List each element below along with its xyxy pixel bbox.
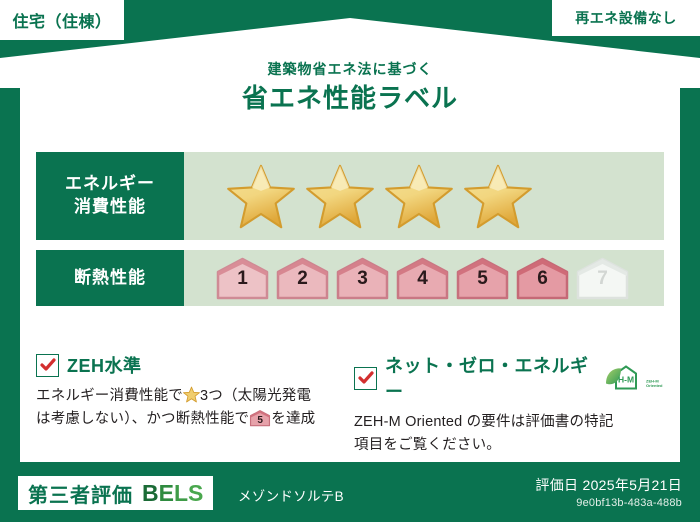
energy-performance-label: 住宅（住棟） 再エネ設備なし 建築物省エネ法に基づく 省エネ性能ラベル エネルギ…	[0, 0, 700, 522]
metric-label-line2: 消費性能	[74, 196, 146, 219]
criterion-text-2: 項目をご覧ください。	[354, 437, 501, 453]
inline-grade-badge: 5	[249, 409, 271, 427]
metric-label-insulation: 断熱性能	[36, 250, 184, 306]
grade-badge-1: 1	[214, 256, 271, 300]
metric-body-stars	[184, 152, 664, 240]
bels-logo-text: BELS	[142, 480, 203, 507]
criterion-text-4: を達成	[271, 411, 315, 427]
criterion-text-1: ZEH-M Oriented の要件は評価書の特記	[354, 414, 614, 430]
metric-row-insulation: 断熱性能 1 2 3	[36, 250, 664, 306]
star-rating	[184, 163, 533, 230]
metrics-section: エネルギー 消費性能	[36, 152, 664, 306]
grade-badge-6: 6	[514, 256, 571, 300]
badge-building-type: 住宅（住棟）	[0, 0, 124, 40]
badge-renewable-equipment: 再エネ設備なし	[552, 0, 700, 36]
grade-number: 4	[394, 268, 451, 290]
star-icon	[183, 386, 200, 403]
checkbox-checked-icon	[354, 367, 377, 390]
star-icon	[226, 163, 296, 230]
grade-number: 6	[514, 268, 571, 290]
criterion-net-zero-energy: ネット・ゼロ・エネルギー H-M ZEH-M Oriented ZEH-M Or…	[346, 352, 664, 458]
metric-label-energy-consumption: エネルギー 消費性能	[36, 152, 184, 240]
metric-body-grades: 1 2 3 4 5	[184, 250, 664, 306]
checkbox-checked-icon	[36, 354, 59, 377]
criterion-description: エネルギー消費性能で3つ（太陽光発電 は考慮しない）、かつ断熱性能で5を達成	[36, 385, 346, 432]
criterion-zeh-standard: ZEH水準 エネルギー消費性能で3つ（太陽光発電 は考慮しない）、かつ断熱性能で…	[36, 352, 346, 458]
criterion-title: ネット・ゼロ・エネルギー	[385, 352, 594, 404]
star-icon	[305, 163, 375, 230]
bels-letter-s: S	[188, 480, 203, 506]
criterion-header: ZEH水準	[36, 352, 346, 378]
grade-badge-3: 3	[334, 256, 391, 300]
metric-label-line1: 断熱性能	[74, 267, 146, 290]
grade-badge-5: 5	[454, 256, 511, 300]
bels-letter-b: B	[142, 480, 159, 506]
criterion-text-3: は考慮しない）、かつ断熱性能で	[36, 411, 249, 427]
logo-text-sub2: Oriented	[646, 383, 663, 388]
bels-letter-l: L	[174, 480, 188, 506]
criterion-description: ZEH-M Oriented の要件は評価書の特記 項目をご覧ください。	[354, 411, 664, 458]
grade-number: 2	[274, 268, 331, 290]
footer-bar: 第三者評価 BELS メゾンドソルテB 評価日 2025年5月21日 9e0bf…	[0, 466, 700, 522]
star-icon	[384, 163, 454, 230]
evaluation-id: 9e0bf13b-483a-488b	[576, 497, 682, 509]
grade-badge-7: 7	[574, 256, 631, 300]
bels-badge: 第三者評価 BELS	[18, 476, 213, 510]
bels-letter-e: E	[159, 480, 174, 506]
star-icon	[463, 163, 533, 230]
building-name: メゾンドソルテB	[238, 485, 344, 505]
criterion-title: ZEH水準	[67, 352, 142, 378]
title-subtitle: 建築物省エネ法に基づく	[0, 62, 700, 76]
criteria-section: ZEH水準 エネルギー消費性能で3つ（太陽光発電 は考慮しない）、かつ断熱性能で…	[36, 352, 664, 458]
third-party-label: 第三者評価	[28, 479, 133, 508]
grade-number: 5	[454, 268, 511, 290]
title-block: 建築物省エネ法に基づく 省エネ性能ラベル	[0, 62, 700, 111]
criterion-text-1: エネルギー消費性能で	[36, 388, 183, 404]
grade-badge-4: 4	[394, 256, 451, 300]
metric-row-energy-consumption: エネルギー 消費性能	[36, 152, 664, 240]
inline-grade-number: 5	[249, 413, 271, 429]
zeh-m-oriented-logo-icon: H-M ZEH-M Oriented	[604, 363, 664, 393]
grade-number: 3	[334, 268, 391, 290]
criterion-header: ネット・ゼロ・エネルギー H-M ZEH-M Oriented	[354, 352, 664, 404]
criterion-text-2: 3つ（太陽光発電	[200, 388, 311, 404]
grade-number: 1	[214, 268, 271, 290]
grade-badge-2: 2	[274, 256, 331, 300]
grade-scale: 1 2 3 4 5	[184, 256, 631, 300]
logo-text-main: H-M	[618, 375, 634, 385]
title-main: 省エネ性能ラベル	[0, 85, 700, 111]
grade-number: 7	[574, 268, 631, 290]
metric-label-line1: エネルギー	[65, 173, 155, 196]
evaluation-date: 評価日 2025年5月21日	[535, 475, 682, 495]
